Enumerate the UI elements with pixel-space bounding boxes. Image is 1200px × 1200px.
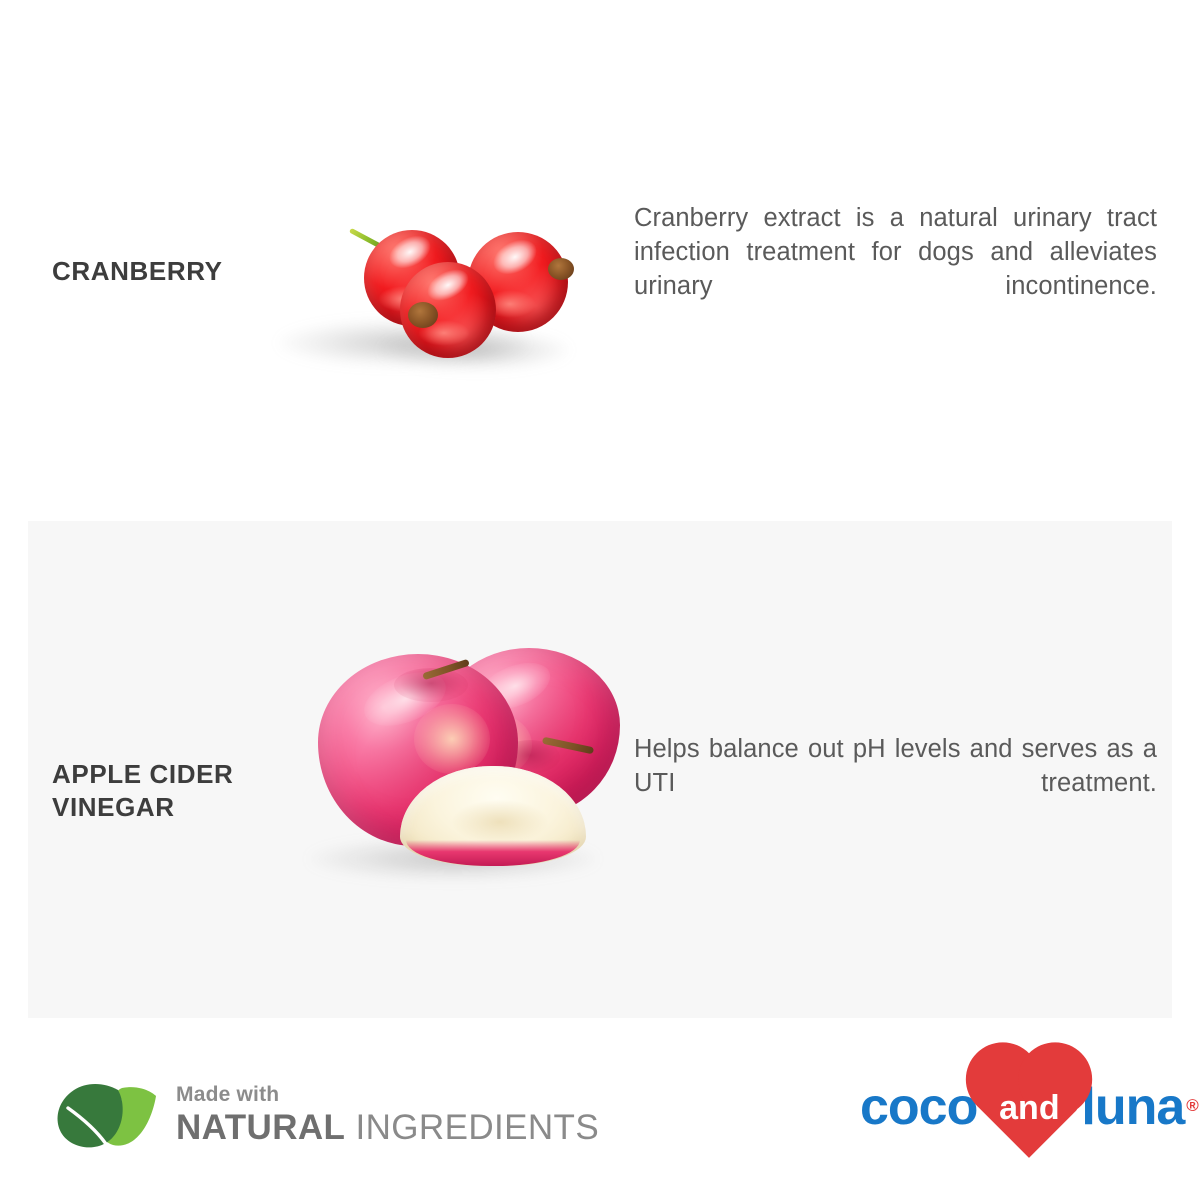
heart-icon: and [971, 1055, 1087, 1159]
badge-made-with-label: Made with [176, 1084, 599, 1105]
ingredient-name-apple-cider-vinegar: APPLE CIDER VINEGAR [52, 758, 282, 825]
cranberry-calyx-front [408, 302, 438, 328]
ingredient-name-cranberry: CRANBERRY [52, 255, 292, 288]
apple-photo [300, 620, 620, 900]
brand-heart-label: and [999, 1091, 1059, 1125]
apple-wedge [400, 766, 586, 866]
brand-word-luna: luna [1081, 1081, 1184, 1133]
badge-text-block: Made with NATURAL INGREDIENTS [176, 1084, 599, 1145]
ingredient-description-apple-cider-vinegar: Helps balance out pH levels and serves a… [634, 733, 1157, 835]
natural-ingredients-badge: Made with NATURAL INGREDIENTS [52, 1068, 599, 1160]
brand-word-coco: coco [860, 1081, 977, 1133]
badge-natural-ingredients-label: NATURAL INGREDIENTS [176, 1110, 599, 1145]
badge-natural-word: NATURAL [176, 1108, 345, 1147]
ingredient-description-cranberry: Cranberry extract is a natural urinary t… [634, 202, 1157, 338]
leaf-icon [52, 1074, 160, 1154]
cranberry-photo [280, 190, 600, 385]
registered-trademark-mark: ® [1186, 1096, 1199, 1116]
brand-logo[interactable]: coco and luna ® [860, 1062, 1199, 1152]
badge-ingredients-word: INGREDIENTS [355, 1108, 599, 1147]
cranberry-calyx-right [548, 258, 574, 280]
